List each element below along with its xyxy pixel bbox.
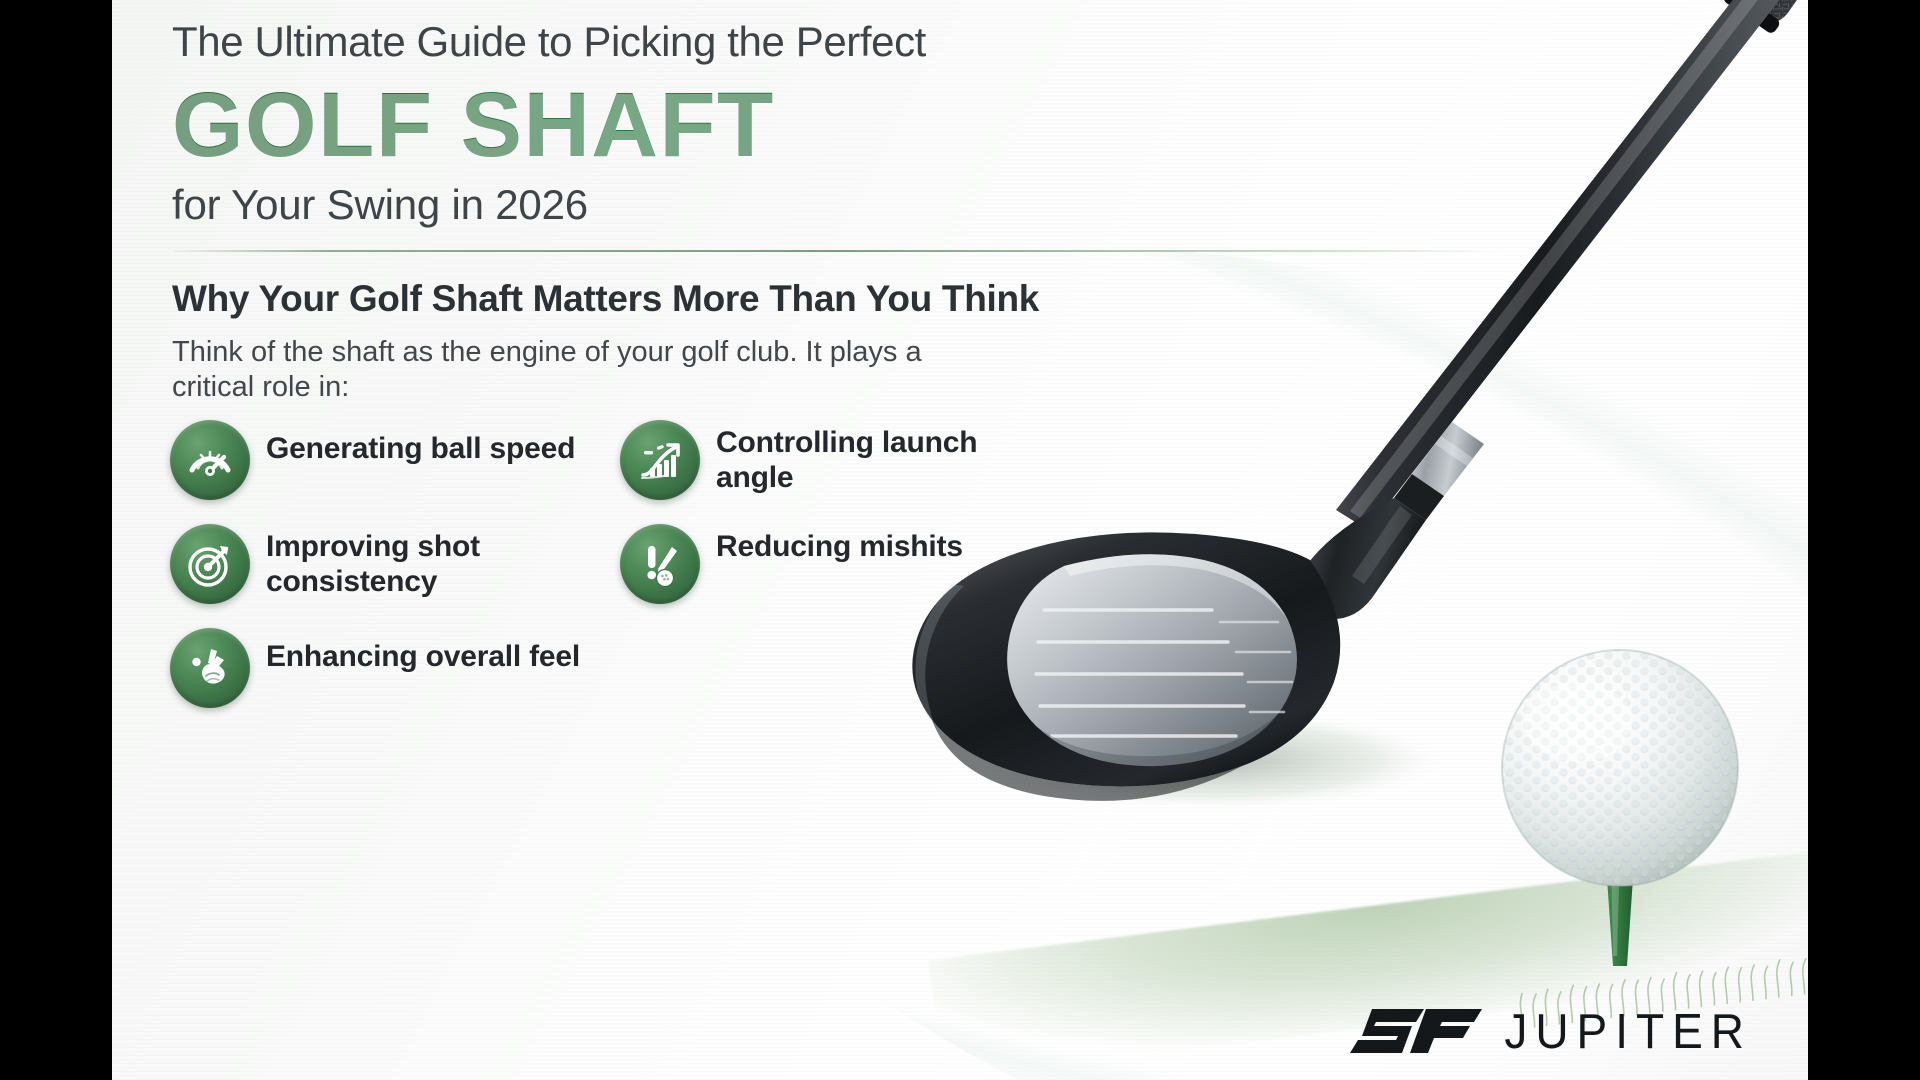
intro-paragraph: Think of the shaft as the engine of your… xyxy=(172,335,962,406)
target-dart-icon xyxy=(170,524,250,604)
eyebrow-text: The Ultimate Guide to Picking the Perfec… xyxy=(172,18,1172,65)
list-item-label: Enhancing overall feel xyxy=(266,628,580,675)
list-item-label: Reducing mishits xyxy=(716,524,963,565)
list-item: Controlling launch angle xyxy=(620,420,1020,500)
header-divider xyxy=(174,250,1504,252)
subtitle-text: for Your Swing in 2026 xyxy=(172,181,1172,229)
benefits-row: Improving shot consistency xyxy=(170,524,1030,606)
benefits-row: Enhancing overall feel xyxy=(170,628,1030,710)
brand-wordmark: JUPITER xyxy=(1504,1002,1752,1059)
page-title: GOLF SHAFT xyxy=(172,79,1172,171)
growth-chart-icon xyxy=(620,420,700,500)
section-heading: Why Your Golf Shaft Matters More Than Yo… xyxy=(172,278,1039,320)
list-item-label: Improving shot consistency xyxy=(266,524,620,600)
list-item: Enhancing overall feel xyxy=(170,628,620,708)
list-item: Generating ball speed xyxy=(170,420,620,500)
brand-logo: JUPITER xyxy=(1350,1004,1752,1058)
screenshot-stage: The Ultimate Guide to Picking the Perfec… xyxy=(0,0,1920,1080)
benefits-list: Generating ball speed xyxy=(170,420,1030,732)
speedometer-icon xyxy=(170,420,250,500)
mishit-alert-icon xyxy=(620,524,700,604)
poster-header: The Ultimate Guide to Picking the Perfec… xyxy=(172,18,1172,229)
golf-ball-on-tee-illustration xyxy=(1460,636,1780,1016)
infographic-poster: The Ultimate Guide to Picking the Perfec… xyxy=(112,0,1808,1080)
benefits-row: Generating ball speed xyxy=(170,420,1030,502)
list-item: Improving shot consistency xyxy=(170,524,620,604)
list-item-label: Controlling launch angle xyxy=(716,420,1020,496)
grip-hand-icon xyxy=(170,628,250,708)
sf-monogram-icon xyxy=(1350,1005,1482,1057)
list-item-label: Generating ball speed xyxy=(266,420,575,467)
list-item: Reducing mishits xyxy=(620,524,1020,604)
